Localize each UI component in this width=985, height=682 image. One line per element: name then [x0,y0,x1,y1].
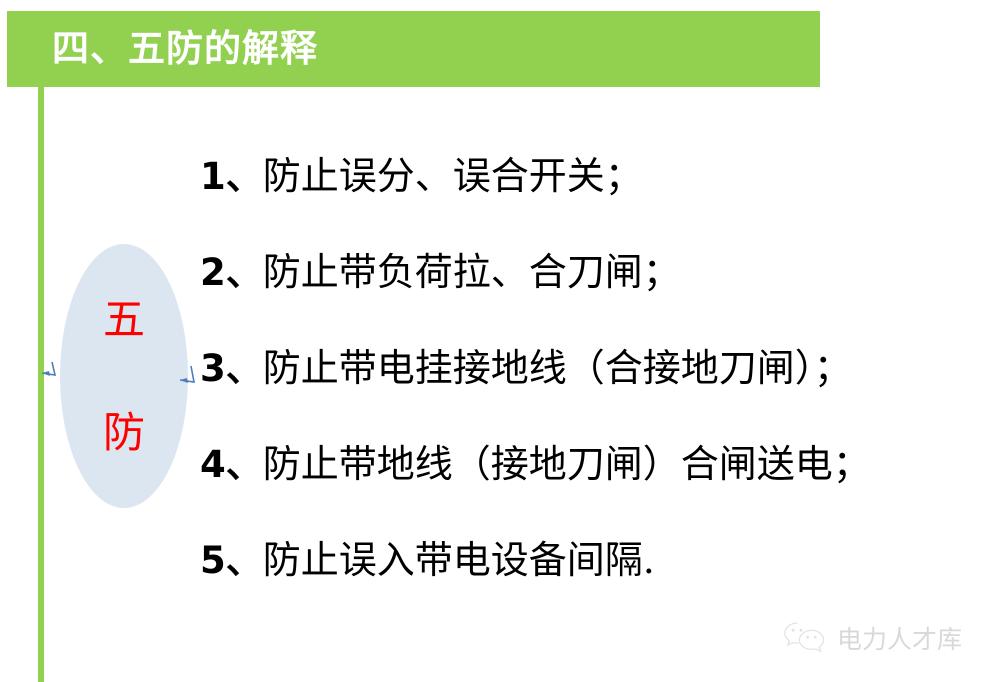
list-item: 1、防止误分、误合开关； [200,128,960,224]
list-item-number: 4、 [200,443,263,486]
list-item: 2、防止带负荷拉、合刀闸； [200,224,960,320]
list-item-text: 防止带地线（接地刀闸）合闸送电； [263,442,871,486]
prevention-rules-list: 1、防止误分、误合开关； 2、防止带负荷拉、合刀闸； 3、防止带电挂接地线（合接… [200,128,960,608]
watermark: 电力人才库 [783,615,962,661]
list-item: 3、防止带电挂接地线（合接地刀闸）； [200,320,960,416]
list-item: 4、防止带地线（接地刀闸）合闸送电； [200,416,960,512]
wechat-icon [783,620,827,656]
connector-arrow-right-icon [178,365,200,391]
ellipse-char-top: 五 [60,299,188,341]
list-item: 5、防止误入带电设备间隔. [200,512,960,608]
ellipse-char-bottom: 防 [60,412,188,454]
watermark-label: 电力人才库 [837,620,962,656]
list-item-text: 防止带负荷拉、合刀闸； [263,250,681,294]
list-item-text: 防止误入带电设备间隔. [263,538,655,582]
list-item-text: 防止带电挂接地线（合接地刀闸）； [263,346,852,390]
list-item-number: 5、 [200,539,263,582]
connector-arrow-left-icon [40,360,62,386]
list-item-number: 1、 [200,155,263,198]
list-item-text: 防止误分、误合开关； [263,154,643,198]
page-title: 四、五防的解释 [52,18,752,80]
five-prevention-ellipse-callout: 五 防 [60,244,188,508]
list-item-number: 3、 [200,347,263,390]
list-item-number: 2、 [200,251,263,294]
